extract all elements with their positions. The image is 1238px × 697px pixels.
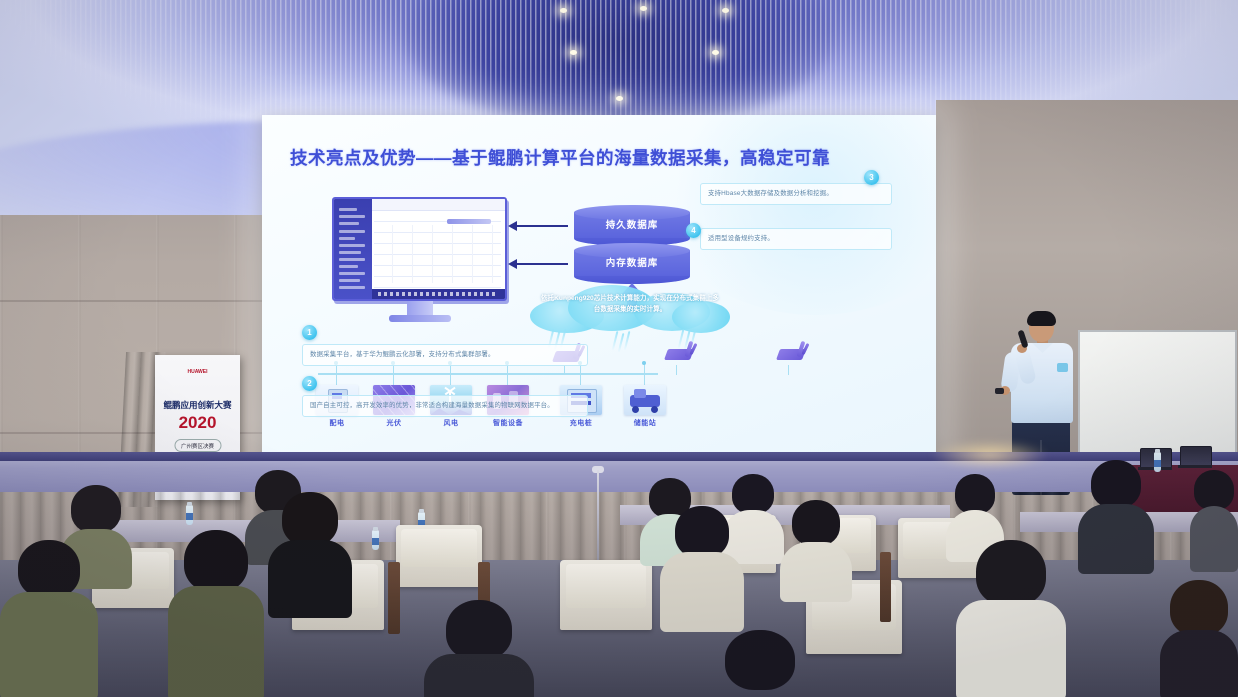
callout-badge-1: 1: [302, 325, 317, 340]
water-bottle: [186, 505, 193, 525]
gateway-device-3: [778, 341, 812, 365]
chair: [396, 525, 482, 587]
audience-member: [168, 530, 264, 697]
audience-member: [0, 540, 98, 697]
audience-member: [1160, 580, 1238, 697]
projection-screen: 技术亮点及优势——基于鲲鹏计算平台的海量数据采集，高稳定可靠: [262, 115, 936, 458]
audience-member: [956, 540, 1066, 697]
callout-text-4: 适用型设备规约支持。: [700, 228, 892, 250]
data-platform-console: [332, 197, 507, 301]
banner-title: 鲲鹏应用创新大赛: [155, 399, 240, 411]
device-icon-storage: 储能站: [624, 385, 666, 428]
callout-badge-3: 3: [864, 170, 879, 185]
energy-storage-icon: [624, 385, 666, 415]
callout-badge-4: 4: [686, 223, 701, 238]
presenter-clicker: [995, 388, 1004, 394]
device-bus-line: [318, 373, 658, 375]
audience-member: [780, 500, 852, 596]
database-memory: 内存数据库: [574, 243, 690, 283]
stage-edge: [0, 452, 1238, 461]
audience-member: [700, 630, 820, 697]
slide-title: 技术亮点及优势——基于鲲鹏计算平台的海量数据采集，高稳定可靠: [290, 145, 830, 170]
conference-photo-scene: 技术亮点及优势——基于鲲鹏计算平台的海量数据采集，高稳定可靠: [0, 0, 1238, 697]
water-bottle: [1154, 452, 1161, 472]
whiteboard: [1078, 330, 1237, 464]
callout-text-2: 国产自主可控，高开发效率的优势，非常适合构建海量数据采集的物联网数据平台。: [302, 395, 588, 417]
callout-text-3: 支持Hbase大数据存储及数据分析和挖掘。: [700, 183, 892, 205]
laptop-2: [1180, 446, 1210, 468]
database-persistent: 持久数据库: [574, 205, 690, 245]
banner-logo: HUAWEI: [171, 369, 225, 375]
banner-subtitle: 广州赛区决赛: [174, 439, 221, 452]
audience-member: [268, 492, 352, 612]
database-memory-label: 内存数据库: [574, 255, 690, 269]
audience-member: [1078, 460, 1154, 570]
callout-text-1: 数据采集平台，基于华为鲲鹏云化部署，支持分布式集群部署。: [302, 344, 588, 366]
audience-member: [660, 506, 744, 626]
database-persistent-label: 持久数据库: [574, 217, 690, 231]
audience-member: [424, 600, 534, 697]
presentation-slide: 技术亮点及优势——基于鲲鹏计算平台的海量数据采集，高稳定可靠: [262, 115, 936, 458]
water-bottle: [372, 530, 379, 550]
banner-year: 2020: [155, 413, 240, 433]
cloud-text: 依托Kunpeng920芯片技术计算能力，实现在分布式集群上多台数据采集的实时计…: [538, 293, 722, 315]
presenter-badge: [1057, 363, 1068, 372]
chair: [560, 560, 652, 630]
compute-cloud: 依托Kunpeng920芯片技术计算能力，实现在分布式集群上多台数据采集的实时计…: [530, 283, 730, 335]
callout-badge-2: 2: [302, 376, 317, 391]
gateway-device-2: [666, 341, 700, 365]
audience-member: [1190, 470, 1238, 570]
